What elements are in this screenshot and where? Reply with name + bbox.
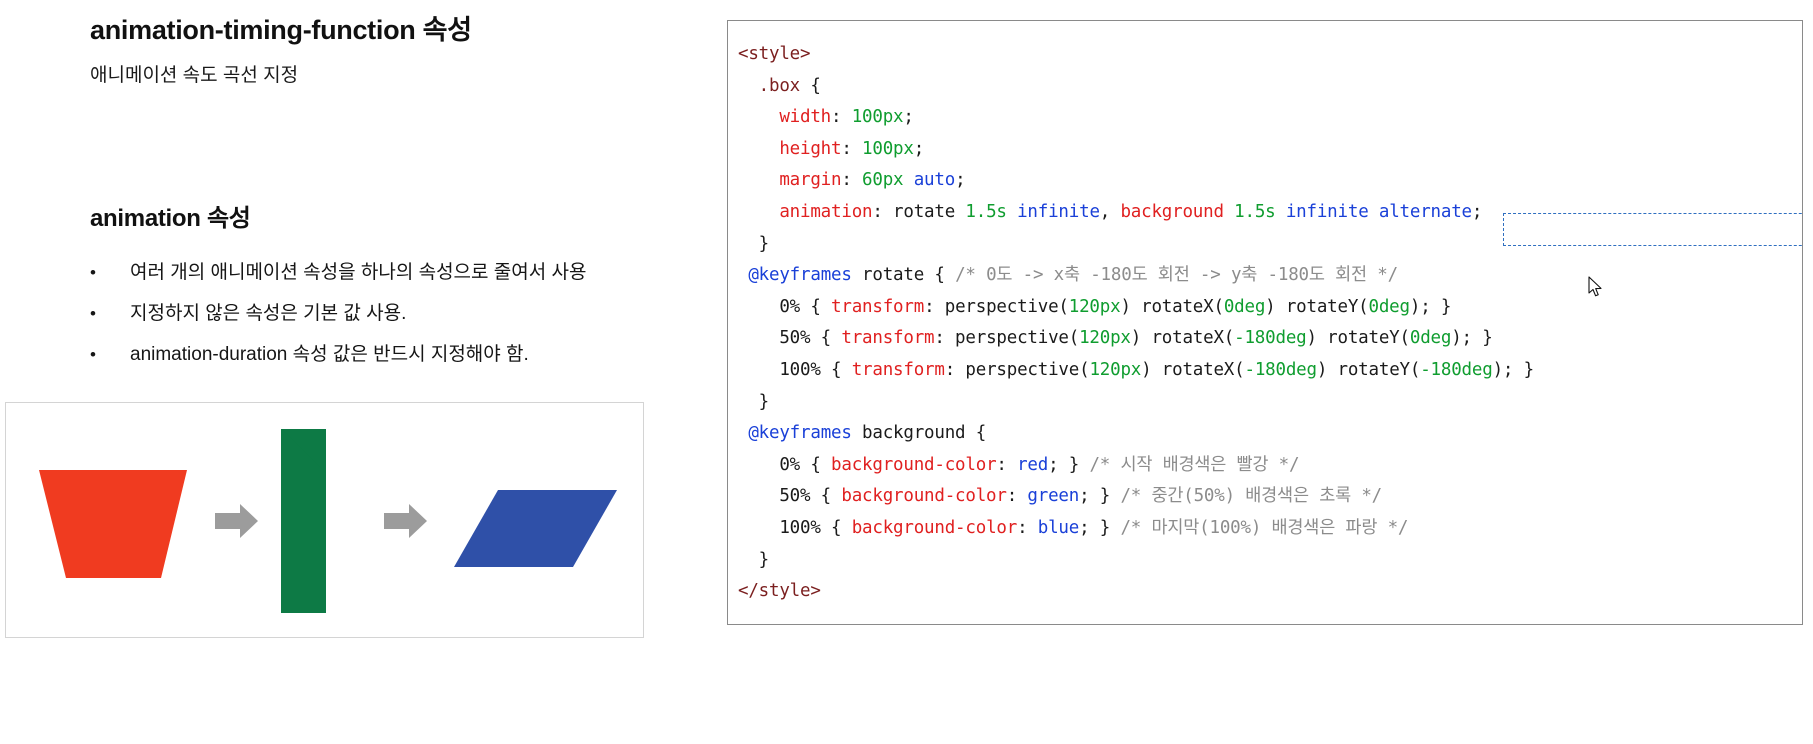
code-token-val: 120px: [1079, 328, 1131, 348]
code-line: 50% { background-color: green; } /* 중간(5…: [738, 481, 1534, 513]
code-token-kw: blue: [1038, 518, 1079, 538]
code-token-plain: ;: [1472, 202, 1482, 222]
code-token-com: /* 시작 배경색은 빨강 */: [1089, 455, 1299, 475]
animation-shape-figure: [5, 402, 644, 638]
code-token-plain: ;: [955, 170, 965, 190]
code-line: height: 100px;: [738, 134, 1534, 166]
code-token-plain: [738, 76, 759, 96]
code-token-plain: background {: [852, 423, 986, 443]
code-token-plain: [1276, 202, 1286, 222]
code-token-prop: margin: [779, 170, 841, 190]
code-token-plain: ); }: [1451, 328, 1492, 348]
code-token-val: 120px: [1069, 297, 1121, 317]
code-token-plain: : perspective(: [934, 328, 1079, 348]
code-token-plain: ); }: [1410, 297, 1451, 317]
code-token-plain: rotate {: [852, 265, 955, 285]
code-token-plain: }: [738, 550, 769, 570]
code-token-prop: animation: [779, 202, 872, 222]
code-token-plain: [1007, 202, 1017, 222]
code-token-plain: : perspective(: [945, 360, 1090, 380]
code-token-plain: ;: [914, 139, 924, 159]
code-token-kw: auto: [914, 170, 955, 190]
code-token-plain: 100% {: [738, 360, 852, 380]
bullet-icon: •: [90, 334, 96, 375]
code-token-plain: [738, 107, 779, 127]
code-line: margin: 60px auto;: [738, 165, 1534, 197]
code-token-com: /* 0도 -> x축 -180도 회전 -> y축 -180도 회전 */: [955, 265, 1398, 285]
code-token-plain: [738, 139, 779, 159]
code-token-plain: :: [841, 170, 862, 190]
code-token-kw: green: [1027, 486, 1079, 506]
code-line: <style>: [738, 39, 1534, 71]
code-token-val: 100px: [852, 107, 904, 127]
arrow-2-icon: [384, 504, 427, 538]
list-item: • animation-duration 속성 값은 반드시 지정해야 함.: [90, 334, 730, 375]
code-token-plain: ; }: [1048, 455, 1089, 475]
code-token-plain: : rotate: [872, 202, 965, 222]
code-token-plain: :: [841, 139, 862, 159]
code-token-prop: background-color: [831, 455, 996, 475]
arrow-1-icon: [215, 504, 258, 538]
code-token-tag: <style>: [738, 44, 810, 64]
code-token-val: 0deg: [1410, 328, 1451, 348]
code-token-plain: [738, 265, 748, 285]
code-token-plain: 100% {: [738, 518, 852, 538]
code-token-plain: ) rotateY(: [1265, 297, 1368, 317]
code-token-plain: ;: [903, 107, 913, 127]
code-token-plain: [738, 423, 748, 443]
code-token-plain: :: [1017, 518, 1038, 538]
code-token-val: -180deg: [1244, 360, 1316, 380]
code-token-plain: ,: [1100, 202, 1121, 222]
code-token-com: /* 중간(50%) 배경색은 초록 */: [1120, 486, 1382, 506]
shape-sequence-svg: [6, 403, 643, 637]
code-token-val: 60px: [862, 170, 903, 190]
code-token-plain: [738, 170, 779, 190]
code-token-plain: ) rotateY(: [1307, 328, 1410, 348]
bullet-icon: •: [90, 252, 96, 293]
list-item: • 지정하지 않은 속성은 기본 값 사용.: [90, 293, 730, 334]
blue-parallelogram-shape: [454, 490, 617, 567]
code-token-sel: .box: [759, 76, 800, 96]
code-token-at: @keyframes: [748, 265, 851, 285]
animation-bullet-list: • 여러 개의 애니메이션 속성을 하나의 속성으로 줄여서 사용 • 지정하지…: [90, 252, 730, 375]
code-token-kw: red: [1017, 455, 1048, 475]
code-token-plain: ) rotateX(: [1131, 328, 1234, 348]
code-token-plain: [903, 170, 913, 190]
code-lines-container: <style> .box { width: 100px; height: 100…: [728, 21, 1534, 608]
code-token-plain: 0% {: [738, 297, 831, 317]
code-token-plain: :: [996, 455, 1017, 475]
code-token-prop: height: [779, 139, 841, 159]
code-token-val: 100px: [862, 139, 914, 159]
code-token-plain: : perspective(: [924, 297, 1069, 317]
code-token-prop: transform: [852, 360, 945, 380]
code-token-prop: transform: [831, 297, 924, 317]
code-token-plain: {: [800, 76, 821, 96]
code-token-plain: }: [738, 392, 769, 412]
code-token-plain: }: [738, 234, 769, 254]
code-line: }: [738, 387, 1534, 419]
code-token-tag: </style>: [738, 581, 821, 601]
code-token-prop: background-color: [841, 486, 1006, 506]
code-token-plain: ) rotateX(: [1120, 297, 1223, 317]
code-line: width: 100px;: [738, 102, 1534, 134]
code-token-plain: 50% {: [738, 328, 841, 348]
code-line: 0% { transform: perspective(120px) rotat…: [738, 292, 1534, 324]
code-line: }: [738, 229, 1534, 261]
code-token-val: -180deg: [1420, 360, 1492, 380]
code-token-plain: ) rotateY(: [1317, 360, 1420, 380]
code-snippet-panel: <style> .box { width: 100px; height: 100…: [727, 20, 1803, 625]
code-token-plain: :: [831, 107, 852, 127]
list-item-label: 지정하지 않은 속성은 기본 값 사용.: [130, 303, 406, 324]
code-line: 100% { background-color: blue; } /* 마지막(…: [738, 513, 1534, 545]
code-token-val: 120px: [1089, 360, 1141, 380]
code-line: 0% { background-color: red; } /* 시작 배경색은…: [738, 450, 1534, 482]
list-item: • 여러 개의 애니메이션 속성을 하나의 속성으로 줄여서 사용: [90, 252, 730, 293]
code-token-val: -180deg: [1234, 328, 1306, 348]
code-token-com: /* 마지막(100%) 배경색은 파랑 */: [1120, 518, 1408, 538]
code-token-val: 1.5s: [1234, 202, 1275, 222]
list-item-label: 여러 개의 애니메이션 속성을 하나의 속성으로 줄여서 사용: [130, 262, 586, 283]
code-line: animation: rotate 1.5s infinite, backgro…: [738, 197, 1534, 229]
code-token-plain: ; }: [1079, 518, 1120, 538]
code-token-plain: 0% {: [738, 455, 831, 475]
code-line: @keyframes rotate { /* 0도 -> x축 -180도 회전…: [738, 260, 1534, 292]
code-token-val: 0deg: [1224, 297, 1265, 317]
code-token-plain: :: [1007, 486, 1028, 506]
code-token-val: 1.5s: [965, 202, 1006, 222]
mouse-cursor-icon: [1588, 276, 1604, 298]
code-token-plain: 50% {: [738, 486, 841, 506]
code-token-prop: width: [779, 107, 831, 127]
code-line: 100% { transform: perspective(120px) rot…: [738, 355, 1534, 387]
page-title-timing-function: animation-timing-function 속성: [90, 8, 472, 47]
list-item-label: animation-duration 속성 값은 반드시 지정해야 함.: [130, 344, 529, 365]
code-line: </style>: [738, 576, 1534, 608]
code-token-val: 0deg: [1369, 297, 1410, 317]
code-token-prop: background-color: [852, 518, 1017, 538]
code-line: .box {: [738, 71, 1534, 103]
code-token-kw: infinite alternate: [1286, 202, 1472, 222]
code-token-plain: [1224, 202, 1234, 222]
code-line: @keyframes background {: [738, 418, 1534, 450]
code-token-plain: ; }: [1079, 486, 1120, 506]
red-trapezoid-shape: [39, 470, 187, 578]
section-title-animation: animation 속성: [90, 198, 251, 233]
code-token-kw: infinite: [1017, 202, 1100, 222]
code-line: }: [738, 545, 1534, 577]
subtitle-timing-function: 애니메이션 속도 곡선 지정: [90, 60, 298, 87]
animation-line-highlight-box: [1503, 213, 1803, 246]
bullet-icon: •: [90, 293, 96, 334]
code-token-prop: transform: [841, 328, 934, 348]
code-token-plain: [738, 202, 779, 222]
code-token-plain: ) rotateX(: [1141, 360, 1244, 380]
code-line: 50% { transform: perspective(120px) rota…: [738, 323, 1534, 355]
left-content-column: animation-timing-function 속성 애니메이션 속도 곡선…: [0, 0, 730, 744]
code-token-plain: ); }: [1493, 360, 1534, 380]
code-token-at: @keyframes: [748, 423, 851, 443]
code-token-prop: background: [1120, 202, 1223, 222]
